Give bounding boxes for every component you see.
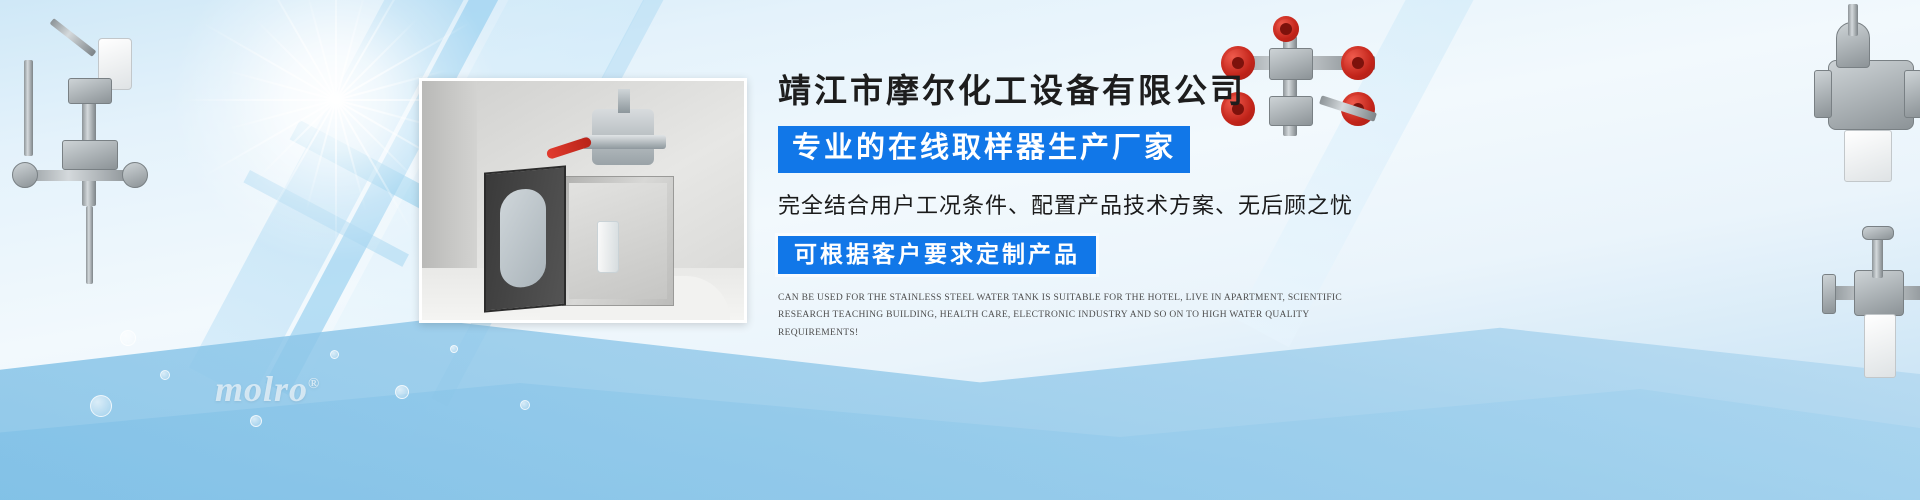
- water-bubble: [90, 395, 112, 417]
- sun-ray: [258, 0, 337, 101]
- photo-valve-stem: [618, 89, 630, 113]
- equipment-flange: [68, 78, 112, 104]
- photo-cabinet-door: [484, 165, 566, 312]
- registered-mark-icon: ®: [308, 376, 320, 392]
- equipment-support: [24, 60, 33, 156]
- sun-ray: [305, 100, 337, 212]
- lower-valve-stem: [1872, 238, 1883, 278]
- lower-valve-flange-left: [1822, 274, 1836, 314]
- banner-text-block: 靖江市摩尔化工设备有限公司 专业的在线取样器生产厂家 完全结合用户工况条件、配置…: [778, 72, 1418, 343]
- photo-valve-flange: [582, 135, 666, 149]
- company-name: 靖江市摩尔化工设备有限公司: [778, 72, 1418, 113]
- actuator-body: [1828, 60, 1914, 130]
- photo-door-window: [500, 187, 546, 289]
- lower-valve-glass-tube: [1864, 314, 1896, 378]
- valve-top-handwheel: [1273, 16, 1299, 42]
- lower-valve-handle: [1862, 226, 1894, 240]
- equipment-probe: [86, 206, 93, 284]
- promotional-banner: molro® 靖江市摩尔化工设备有限公司 专业的在线取样器生产厂家 完全结合用户…: [0, 0, 1920, 500]
- lower-sampler-valve-image: [1900, 240, 1920, 410]
- subheadline-text: 完全结合用户工况条件、配置产品技术方案、无后顾之忧: [778, 188, 1418, 220]
- actuator-sight-glass: [1844, 130, 1892, 182]
- sun-ray: [335, 0, 414, 101]
- sampler-equipment-left-image: [10, 20, 170, 280]
- gear-actuator-valve-image: [1888, 26, 1920, 226]
- equipment-handwheel: [122, 162, 148, 188]
- water-bubble: [330, 350, 339, 359]
- water-bubble: [450, 345, 458, 353]
- sun-ray: [335, 100, 337, 255]
- headline-badge: 专业的在线取样器生产厂家: [778, 126, 1190, 172]
- actuator-stem: [1848, 4, 1858, 36]
- equipment-valve-body: [62, 140, 118, 170]
- english-description: CAN BE USED FOR THE STAINLESS STEEL WATE…: [778, 290, 1378, 343]
- photo-sample-bottle: [597, 221, 619, 273]
- water-bubble: [160, 370, 170, 380]
- watermark-logo: molro®: [215, 368, 320, 410]
- equipment-arm: [50, 18, 97, 57]
- tagline-badge: 可根据客户要求定制产品: [778, 236, 1096, 274]
- photo-sampler-cabinet: [562, 176, 674, 306]
- sun-ray: [181, 99, 336, 101]
- water-bubble: [520, 400, 530, 410]
- actuator-flange-right: [1904, 70, 1920, 118]
- sun-ray: [335, 0, 337, 100]
- watermark-text: molro: [215, 369, 308, 409]
- water-bubble: [395, 385, 409, 399]
- equipment-handwheel: [12, 162, 38, 188]
- actuator-flange-left: [1814, 70, 1832, 118]
- water-bubble: [120, 330, 136, 346]
- product-photo: [419, 78, 747, 323]
- water-bubble: [250, 415, 262, 427]
